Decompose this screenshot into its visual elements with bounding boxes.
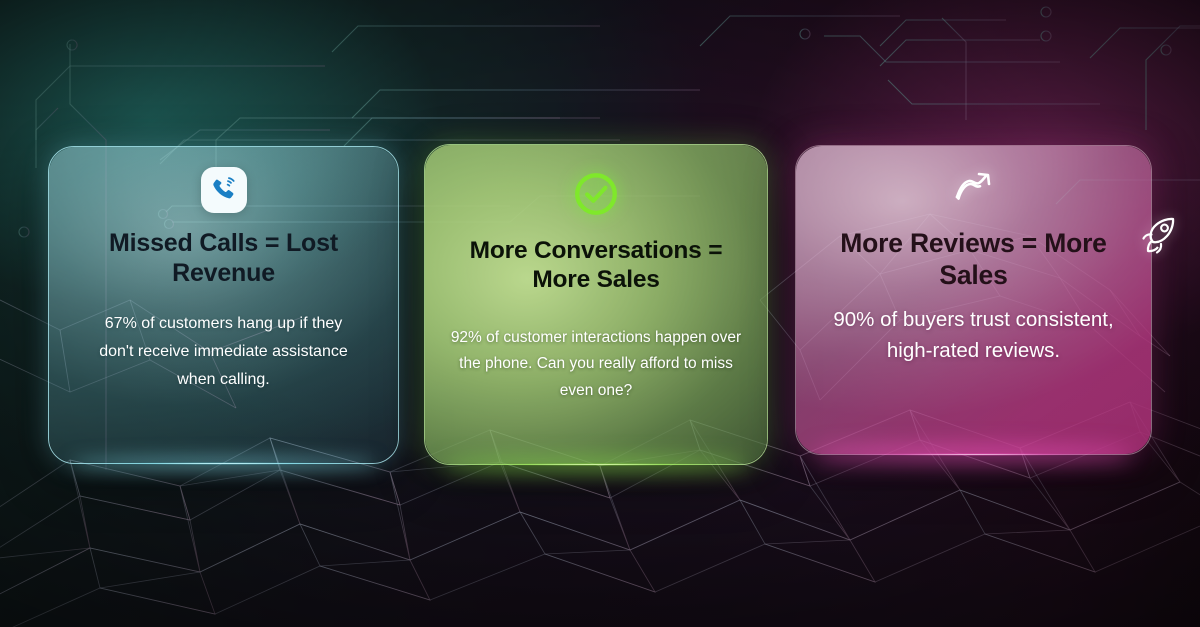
card-more-reviews[interactable]: More Reviews = More Sales 90% of buyers … <box>795 145 1152 455</box>
card-row: Missed Calls = Lost Revenue 67% of custo… <box>0 0 1200 627</box>
card-body: 67% of customers hang up if they don't r… <box>99 310 349 393</box>
rocket-icon <box>1137 214 1181 258</box>
check-circle-icon <box>571 169 621 219</box>
card-body: 92% of customer interactions happen over… <box>446 325 746 405</box>
slide-canvas: Missed Calls = Lost Revenue 67% of custo… <box>0 0 1200 627</box>
card-title-text: More Reviews = More Sales <box>840 228 1106 290</box>
card-body: 90% of buyers trust consistent, high-rat… <box>829 304 1119 366</box>
card-icon-slot <box>952 168 996 206</box>
card-title: More Reviews = More Sales <box>816 228 1131 292</box>
card-title: Missed Calls = Lost Revenue <box>71 228 376 288</box>
card-icon-slot <box>571 169 621 219</box>
card-missed-calls[interactable]: Missed Calls = Lost Revenue 67% of custo… <box>48 146 399 464</box>
card-title: More Conversations = More Sales <box>443 236 749 295</box>
card-icon-slot <box>201 167 247 213</box>
card-more-conversations[interactable]: More Conversations = More Sales 92% of c… <box>424 144 768 465</box>
growth-arrow-icon <box>952 168 996 206</box>
phone-call-icon <box>201 167 247 213</box>
